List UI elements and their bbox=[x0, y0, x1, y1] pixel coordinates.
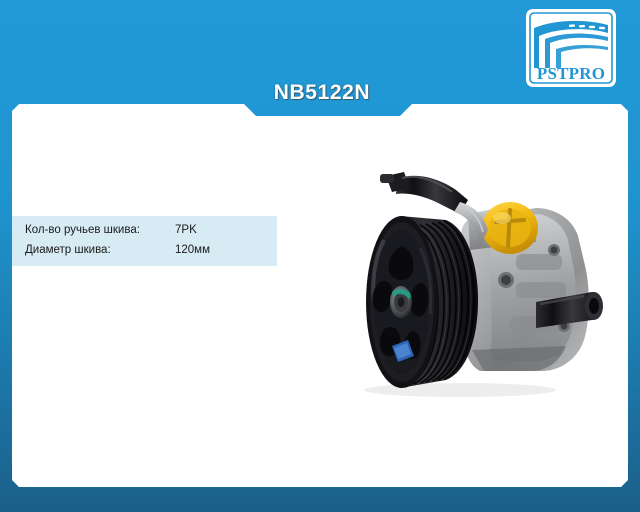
product-card: PSTPRO NB5122N Кол-во ручьев шкива:7PK Д… bbox=[0, 0, 640, 512]
pstpro-logo: PSTPRO bbox=[525, 8, 617, 88]
specs-table: Кол-во ручьев шкива:7PK Диаметр шкива:12… bbox=[12, 216, 277, 266]
spec-row: Кол-во ручьев шкива:7PK bbox=[25, 224, 197, 236]
spec-value-pulley-grooves: 7PK bbox=[175, 224, 197, 236]
spec-value-pulley-diameter: 120мм bbox=[175, 244, 210, 256]
logo-text: PSTPRO bbox=[537, 64, 605, 83]
spec-label-pulley-grooves: Кол-во ручьев шкива: bbox=[25, 224, 175, 236]
spec-row: Диаметр шкива:120мм bbox=[25, 244, 210, 256]
pulley bbox=[366, 216, 478, 388]
reservoir-cap bbox=[482, 202, 538, 254]
product-image-power-steering-pump bbox=[340, 150, 632, 400]
product-code-banner: NB5122N bbox=[232, 78, 412, 108]
spec-label-pulley-diameter: Диаметр шкива: bbox=[25, 244, 175, 256]
page-title: NB5122N bbox=[274, 81, 370, 105]
